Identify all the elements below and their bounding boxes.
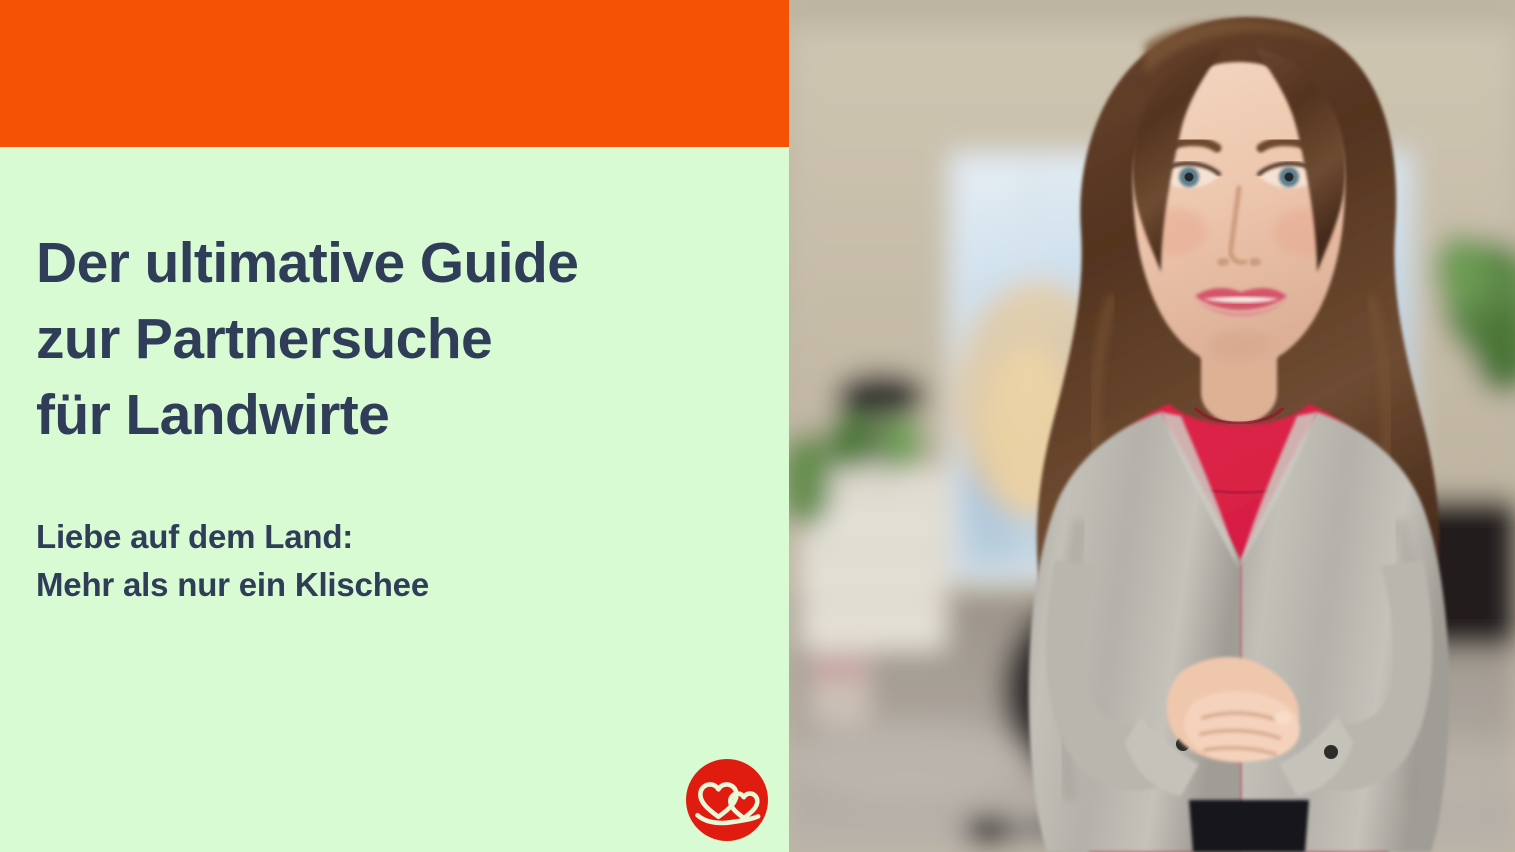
trousers [1189,800,1309,852]
fingernail [1274,711,1292,725]
pupil-left [1185,173,1194,182]
page-subtitle: Liebe auf dem Land: Mehr als nur ein Kli… [36,513,736,609]
pupil-right [1285,173,1294,182]
cuff-button-right [1324,745,1338,759]
chin-shadow [1209,330,1269,358]
nostril-right [1249,258,1261,266]
presenter-photo-illustration [789,0,1515,852]
orange-accent-bar [0,0,789,147]
page-title: Der ultimative Guide zur Partnersuche fü… [36,225,736,453]
two-hearts-logo [686,759,768,841]
presenter-photo [789,0,1515,852]
two-hearts-logo-icon [686,759,768,841]
nostril-left [1217,258,1229,266]
slide-root: Der ultimative Guide zur Partnersuche fü… [0,0,1515,852]
left-text-panel: Der ultimative Guide zur Partnersuche fü… [0,0,789,852]
presenter-subject [1029,17,1450,852]
